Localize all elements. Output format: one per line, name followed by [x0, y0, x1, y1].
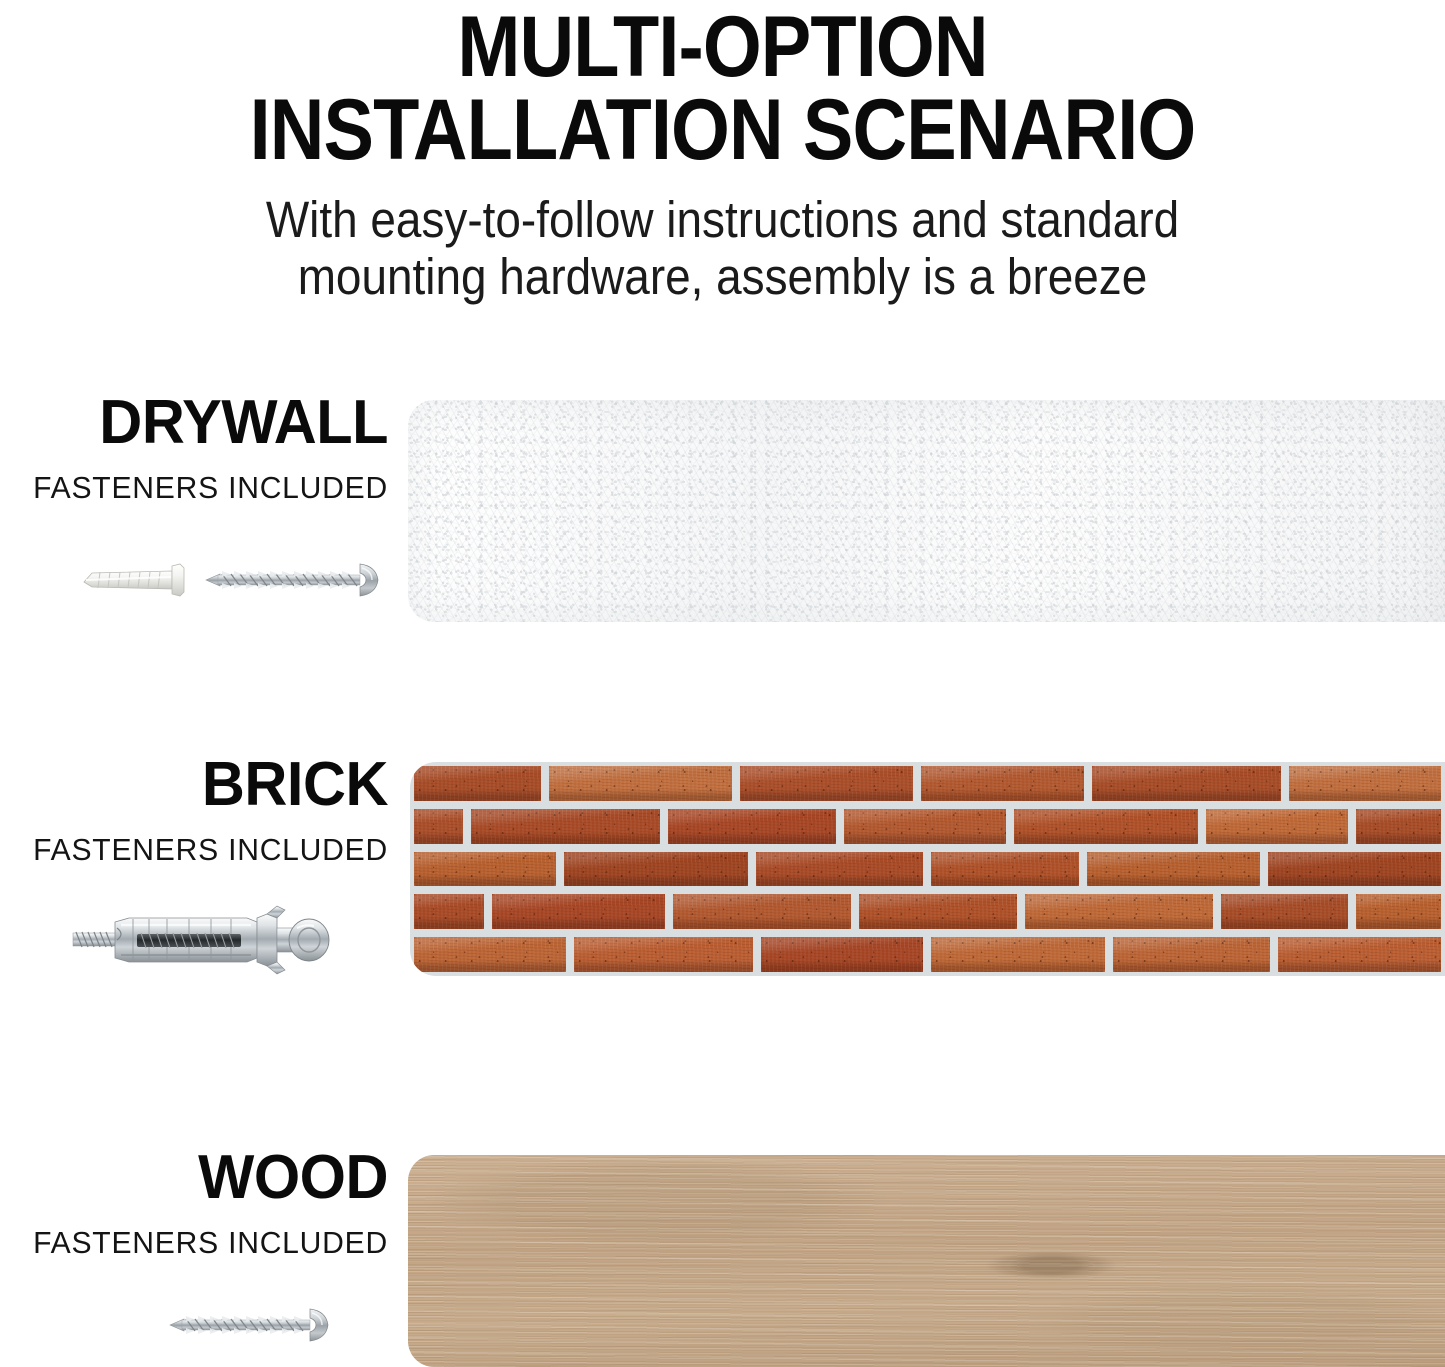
brick-unit [736, 762, 917, 805]
molly-sleeve-body [115, 918, 257, 962]
material-name-wood: WOOD [16, 1147, 388, 1209]
drywall-fasteners-illustration [76, 552, 386, 608]
brick-unit [1352, 890, 1445, 933]
brick-unit [1352, 805, 1445, 848]
brick-unit [560, 848, 751, 891]
material-name-brick: BRICK [16, 754, 388, 816]
wood-surface-swatch [408, 1155, 1445, 1367]
brick-unit [410, 805, 467, 848]
brick-unit [1285, 762, 1445, 805]
brick-unit [545, 762, 736, 805]
plastic-wall-anchor-icon [84, 564, 184, 596]
drywall-surface-swatch [408, 400, 1445, 622]
brick-row [410, 805, 1445, 848]
brick-unit [927, 933, 1108, 976]
page-title: MULTI-OPTION INSTALLATION SCENARIO [87, 0, 1359, 171]
fasteners-included-label-wood: FASTENERS INCLUDED [12, 1225, 388, 1261]
brick-row [410, 848, 1445, 891]
brick-row [410, 933, 1445, 976]
brick-info-column: BRICK FASTENERS INCLUDED [0, 754, 388, 868]
brick-unit [570, 933, 756, 976]
brick-unit [1109, 933, 1275, 976]
molly-bolt-anchor-illustration [71, 904, 356, 976]
brick-unit [488, 890, 669, 933]
brick-hardware-group [71, 904, 356, 981]
wood-screw-illustration [168, 1297, 353, 1353]
brick-unit [1010, 805, 1201, 848]
page-title-line-1: MULTI-OPTION [457, 0, 987, 95]
material-name-drywall: DRYWALL [16, 392, 388, 454]
wood-hardware-group [168, 1297, 353, 1358]
brick-unit [1264, 848, 1445, 891]
material-row-wood: WOOD FASTENERS INCLUDED [0, 1147, 1445, 1367]
brick-unit [410, 933, 570, 976]
brick-row [410, 890, 1445, 933]
brick-unit [1217, 890, 1352, 933]
brick-unit [840, 805, 1011, 848]
molly-screw-head [277, 919, 329, 961]
brick-unit [410, 848, 560, 891]
molly-threaded-tip [73, 932, 117, 947]
brick-unit [664, 805, 840, 848]
material-row-brick: BRICK FASTENERS INCLUDED [0, 754, 1445, 986]
page-subtitle-line-1: With easy-to-follow instructions and sta… [72, 191, 1373, 248]
page-subtitle: With easy-to-follow instructions and sta… [72, 191, 1373, 305]
brick-unit [927, 848, 1082, 891]
brick-unit [757, 933, 928, 976]
fasteners-included-label-drywall: FASTENERS INCLUDED [12, 470, 388, 506]
brick-row [410, 762, 1445, 805]
fasteners-included-label-brick: FASTENERS INCLUDED [12, 832, 388, 868]
brick-unit [917, 762, 1088, 805]
brick-unit [1083, 848, 1264, 891]
drywall-info-column: DRYWALL FASTENERS INCLUDED [0, 392, 388, 506]
brick-unit [1274, 933, 1445, 976]
brick-unit [669, 890, 855, 933]
brick-unit [410, 890, 488, 933]
washer-head-screw-icon [170, 1309, 328, 1341]
brick-unit [1202, 805, 1352, 848]
drywall-hardware-group [76, 552, 386, 613]
brick-unit [410, 762, 545, 805]
brick-unit [1021, 890, 1218, 933]
brick-unit [1088, 762, 1285, 805]
brick-surface-swatch [410, 762, 1445, 976]
brick-pattern [410, 762, 1445, 976]
brick-unit [752, 848, 928, 891]
page-subtitle-line-2: mounting hardware, assembly is a breeze [72, 248, 1373, 305]
material-row-drywall: DRYWALL FASTENERS INCLUDED [0, 392, 1445, 632]
wood-info-column: WOOD FASTENERS INCLUDED [0, 1147, 388, 1261]
brick-unit [855, 890, 1021, 933]
brick-unit [467, 805, 664, 848]
washer-head-screw-icon [206, 564, 378, 596]
header: MULTI-OPTION INSTALLATION SCENARIO With … [0, 0, 1445, 305]
page-title-line-2: INSTALLATION SCENARIO [87, 89, 1359, 172]
